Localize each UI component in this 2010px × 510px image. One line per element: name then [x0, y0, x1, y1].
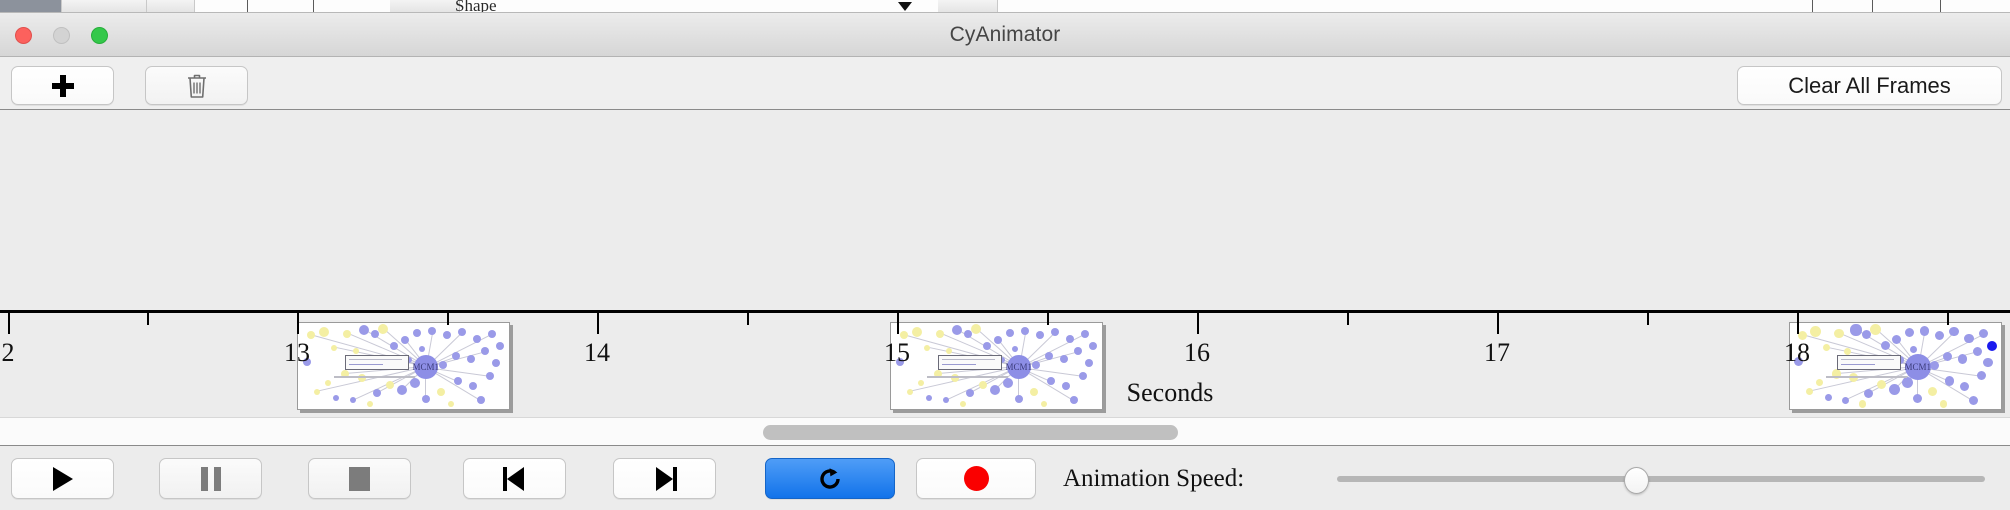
frame-node: [1041, 401, 1047, 407]
frame-node: [353, 348, 359, 354]
frame-hub-node: MCM1: [414, 355, 438, 379]
frame-node: [1930, 361, 1939, 370]
frame-caption-line: [334, 376, 415, 378]
clear-all-frames-label: Clear All Frames: [1788, 73, 1951, 99]
frame-node: [1047, 377, 1055, 385]
frame-node: [1913, 394, 1922, 403]
frame-node: [443, 331, 451, 339]
frame-hub-node: MCM1: [1905, 354, 1931, 380]
frame-node: [469, 382, 477, 390]
frame-node: [1889, 384, 1900, 395]
cyanimator-window: Shape CyAnimator Clear All Frames MCM1MC…: [0, 0, 2010, 510]
play-button[interactable]: [11, 458, 114, 499]
frame-annotation-box: [938, 355, 1002, 370]
frame-node: [1036, 331, 1044, 339]
frame-node: [1920, 326, 1929, 335]
frame-node: [926, 395, 932, 401]
frame-node: [1032, 361, 1040, 369]
frame-node: [1949, 327, 1958, 336]
background-window-label: Shape: [455, 0, 497, 13]
frame-node: [1877, 380, 1886, 389]
timeline-panel[interactable]: MCM1MCM1MCM1 2131415161718Seconds: [0, 110, 2010, 417]
axis-tick-label: 15: [884, 338, 910, 368]
frame-node: [1973, 347, 1982, 356]
timeline-frame-thumbnail[interactable]: MCM1: [890, 322, 1103, 410]
record-icon: [964, 466, 989, 491]
frame-node: [1003, 378, 1013, 388]
frame-annotation-line: [349, 364, 383, 366]
frame-node: [422, 395, 430, 403]
frame-node: [990, 385, 1000, 395]
previous-frame-button[interactable]: [463, 458, 566, 499]
frame-node: [314, 389, 320, 395]
playback-control-bar: Animation Speed:: [0, 445, 2010, 510]
pause-icon: [201, 467, 221, 491]
frame-node: [1081, 330, 1089, 338]
axis-tick-label: 13: [284, 338, 310, 368]
frame-node: [979, 381, 987, 389]
stop-button[interactable]: [308, 458, 411, 499]
frame-node: [966, 389, 974, 397]
axis-tick-major: [1797, 313, 1799, 334]
axis-tick-label: 14: [584, 338, 610, 368]
frame-node: [1859, 400, 1866, 407]
frame-node: [458, 328, 466, 336]
frame-node: [1945, 376, 1954, 385]
slider-thumb[interactable]: [1624, 467, 1649, 494]
frame-node: [413, 329, 421, 337]
frame-node: [1940, 400, 1947, 407]
frame-node: [1935, 331, 1944, 340]
frame-node: [373, 389, 381, 397]
frame-node: [454, 377, 462, 385]
axis-tick-minor: [1647, 313, 1649, 325]
timeline-frame-thumbnail[interactable]: MCM1: [297, 322, 510, 410]
frame-node: [952, 325, 962, 335]
frame-node: [1079, 372, 1087, 380]
axis-title: Seconds: [1127, 378, 1214, 408]
frame-node: [1987, 341, 1997, 351]
frame-node: [1842, 397, 1849, 404]
axis-tick-label: 18: [1784, 338, 1810, 368]
axis-tick-minor: [747, 313, 749, 325]
frame-node: [1844, 348, 1851, 355]
axis-tick-minor: [1947, 313, 1949, 325]
frame-node: [448, 401, 454, 407]
frame-node: [946, 348, 952, 354]
loop-button[interactable]: [765, 458, 895, 499]
frame-annotation-line: [349, 359, 402, 361]
frame-node: [477, 396, 485, 404]
delete-frame-button[interactable]: [145, 66, 248, 105]
frame-network-preview: MCM1: [298, 323, 509, 409]
window-title: CyAnimator: [0, 13, 2010, 57]
axis-tick-minor: [1047, 313, 1049, 325]
loop-icon: [817, 466, 843, 492]
frame-node: [907, 389, 913, 395]
frame-annotation-line: [942, 359, 995, 361]
frame-node: [1015, 395, 1023, 403]
record-button[interactable]: [916, 458, 1036, 499]
frame-node: [1960, 382, 1969, 391]
frame-node: [467, 355, 475, 363]
axis-tick-label: 17: [1484, 338, 1510, 368]
frame-network-preview: MCM1: [891, 323, 1102, 409]
frame-toolbar: Clear All Frames: [0, 57, 2010, 110]
frame-network-preview: MCM1: [1790, 323, 2001, 409]
add-frame-button[interactable]: [11, 66, 114, 105]
stop-icon: [349, 467, 370, 491]
frame-node: [1062, 382, 1070, 390]
axis-tick-major: [297, 313, 299, 334]
frame-node: [390, 342, 398, 350]
frame-node: [1864, 389, 1873, 398]
frame-node: [367, 401, 373, 407]
axis-tick-label: 2: [2, 338, 15, 368]
frame-node: [918, 380, 924, 386]
frame-hub-node: MCM1: [1007, 355, 1031, 379]
timeline-frame-thumbnail[interactable]: MCM1: [1789, 322, 2002, 410]
axis-tick-major: [1197, 313, 1199, 334]
frame-node: [1943, 352, 1952, 361]
frame-node: [1928, 387, 1937, 396]
frame-node: [1870, 324, 1881, 335]
axis-tick-minor: [1347, 313, 1349, 325]
frame-node: [1983, 358, 1992, 367]
frame-node: [333, 395, 339, 401]
frame-node: [1006, 329, 1014, 337]
frame-node: [401, 336, 409, 344]
axis-tick-major: [1497, 313, 1499, 334]
frame-node: [410, 378, 420, 388]
frame-node: [1051, 328, 1059, 336]
frame-node: [983, 342, 991, 350]
axis-tick-minor: [147, 313, 149, 325]
frame-node: [1085, 359, 1093, 367]
frame-node: [1074, 347, 1082, 355]
title-bar[interactable]: CyAnimator: [0, 13, 2010, 57]
frame-node: [473, 335, 481, 343]
frame-node: [481, 347, 489, 355]
axis-tick-major: [897, 313, 899, 334]
frame-node: [1902, 377, 1913, 388]
frame-annotation-line: [942, 364, 976, 366]
frame-node: [1012, 346, 1018, 352]
frame-node: [359, 325, 369, 335]
animation-speed-label: Animation Speed:: [1063, 458, 1244, 499]
frame-node: [488, 330, 496, 338]
frame-caption-line: [927, 376, 1008, 378]
frame-node: [1969, 396, 1978, 405]
frame-node: [1979, 329, 1988, 338]
frame-annotation-line: [1841, 359, 1894, 361]
frame-node: [1850, 324, 1861, 335]
frame-node: [1823, 344, 1830, 351]
animation-speed-slider[interactable]: [1337, 458, 1985, 499]
plus-icon: [51, 74, 75, 98]
frame-node: [912, 327, 922, 337]
frame-node: [486, 372, 494, 380]
skip-forward-icon: [653, 467, 677, 491]
frame-node: [1021, 327, 1029, 335]
frame-annotation-box: [345, 355, 409, 370]
skip-back-icon: [503, 467, 527, 491]
axis-tick-minor: [447, 313, 449, 325]
frame-node: [492, 359, 500, 367]
clear-all-frames-button[interactable]: Clear All Frames: [1737, 66, 2002, 105]
frame-node: [960, 401, 966, 407]
frame-node: [397, 385, 407, 395]
frame-node: [319, 327, 329, 337]
frame-node: [1070, 396, 1078, 404]
frame-node: [1060, 355, 1068, 363]
frame-node: [1910, 346, 1917, 353]
axis-tick-major: [597, 313, 599, 334]
frame-node: [428, 327, 436, 335]
frame-node: [1977, 371, 1986, 380]
frame-node: [386, 381, 394, 389]
frame-node: [350, 397, 356, 403]
frame-node: [994, 336, 1002, 344]
frame-node: [1958, 354, 1967, 363]
frame-node: [419, 346, 425, 352]
frame-node: [496, 342, 504, 350]
axis-tick-major: [8, 313, 10, 334]
frame-annotation-line: [1841, 364, 1875, 366]
frame-node: [1816, 379, 1823, 386]
frame-node: [1089, 342, 1097, 350]
frame-node: [1030, 388, 1038, 396]
frame-node: [1066, 335, 1074, 343]
frame-node: [343, 330, 351, 338]
frame-node: [924, 345, 930, 351]
frame-node: [437, 388, 445, 396]
next-frame-button[interactable]: [613, 458, 716, 499]
frame-node: [439, 361, 447, 369]
play-icon: [53, 467, 73, 491]
frame-node: [936, 330, 944, 338]
frame-node: [1834, 329, 1843, 338]
pause-button[interactable]: [159, 458, 262, 499]
frame-node: [1806, 388, 1813, 395]
background-window-strip: Shape: [0, 0, 2010, 13]
slider-track[interactable]: [1337, 476, 1985, 482]
axis-tick-label: 16: [1184, 338, 1210, 368]
frame-annotation-box: [1837, 355, 1901, 370]
timeline-scrollbar[interactable]: [0, 417, 2010, 445]
trash-icon: [186, 73, 208, 99]
frame-node: [1905, 328, 1914, 337]
frame-node: [1964, 334, 1973, 343]
timeline-scrollbar-thumb[interactable]: [763, 425, 1178, 440]
frame-caption-line: [1826, 376, 1907, 378]
frame-node: [1810, 326, 1821, 337]
frame-node: [325, 380, 331, 386]
frame-node: [1825, 394, 1832, 401]
axis-line: [0, 310, 2010, 313]
frame-node: [331, 345, 337, 351]
frame-node: [943, 397, 949, 403]
